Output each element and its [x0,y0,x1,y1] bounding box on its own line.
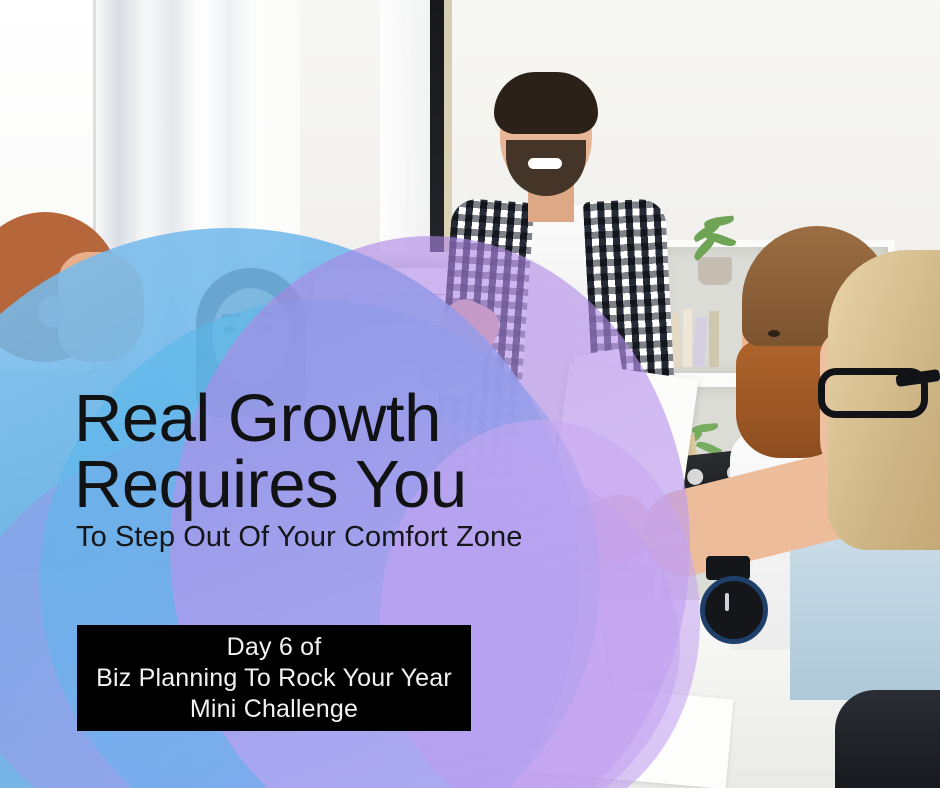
headline-line-1: Real Growth [74,381,441,456]
banner-line-3: Mini Challenge [190,695,358,724]
wristwatch [700,576,768,644]
subheadline: To Step Out Of Your Comfort Zone [76,521,676,554]
banner-line-2: Biz Planning To Rock Your Year [96,664,452,693]
banner-line-1: Day 6 of [227,633,322,662]
challenge-banner: Day 6 of Biz Planning To Rock Your Year … [77,625,471,731]
headline: Real Growth Requires You [74,386,634,517]
graphic-canvas: Real Growth Requires You To Step Out Of … [0,0,940,788]
headline-line-2: Requires You [74,452,634,518]
